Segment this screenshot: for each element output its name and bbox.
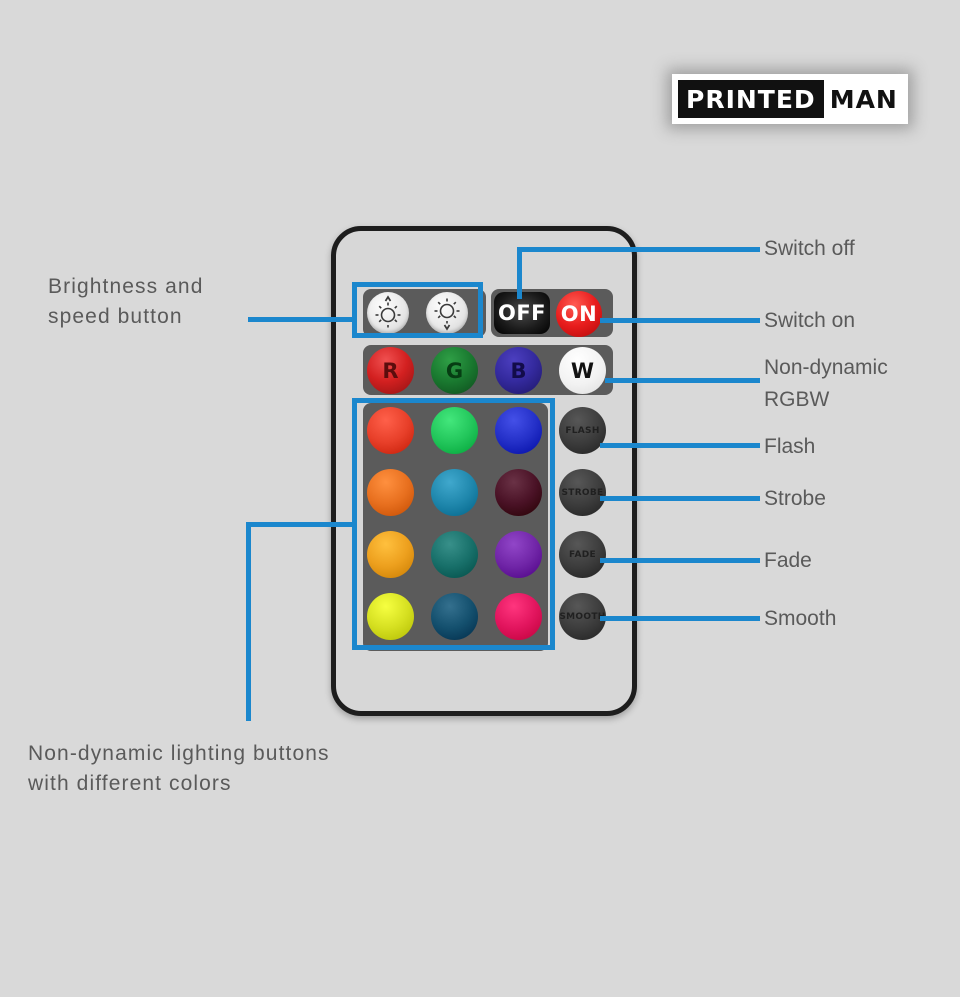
strobe-leader-line <box>600 496 760 501</box>
annotation-switch-off: Switch off <box>764 234 855 264</box>
smooth-leader-line <box>600 616 760 621</box>
logo-printed-text: PRINTED <box>678 80 824 118</box>
rgbw-green-button[interactable]: G <box>431 347 478 394</box>
mode-fade-button[interactable]: FADE <box>559 531 606 578</box>
printed-man-logo: PRINTED MAN <box>672 74 908 124</box>
switch-on-leader-line <box>600 318 760 323</box>
rgbw-red-button[interactable]: R <box>367 347 414 394</box>
mode-flash-button[interactable]: FLASH <box>559 407 606 454</box>
rgbw-blue-button[interactable]: B <box>495 347 542 394</box>
color-grid-highlight-box <box>352 398 555 650</box>
rgbw-leader-line <box>605 378 760 383</box>
brightness-highlight-box <box>352 282 483 338</box>
annotation-brightness: Brightness and speed button <box>48 272 288 332</box>
logo-man-text: MAN <box>824 80 904 118</box>
rgbw-white-button[interactable]: W <box>559 347 606 394</box>
annotation-flash: Flash <box>764 432 815 462</box>
colors-leader-vertical <box>246 522 251 721</box>
mode-strobe-button[interactable]: STROBE <box>559 469 606 516</box>
annotation-colors: Non-dynamic lighting buttons with differ… <box>28 739 448 799</box>
annotation-strobe: Strobe <box>764 484 826 514</box>
colors-leader-horizontal <box>246 522 356 527</box>
annotation-non-dynamic-rgbw: Non-dynamic RGBW <box>764 352 888 416</box>
power-off-button[interactable]: OFF <box>494 292 550 334</box>
annotation-fade: Fade <box>764 546 812 576</box>
mode-smooth-button[interactable]: SMOOTH <box>559 593 606 640</box>
annotation-switch-on: Switch on <box>764 306 855 336</box>
switch-off-leader-horizontal <box>517 247 760 252</box>
power-on-button[interactable]: ON <box>556 291 602 337</box>
switch-off-leader-vertical <box>517 247 522 299</box>
fade-leader-line <box>600 558 760 563</box>
flash-leader-line <box>600 443 760 448</box>
annotation-smooth: Smooth <box>764 604 836 634</box>
